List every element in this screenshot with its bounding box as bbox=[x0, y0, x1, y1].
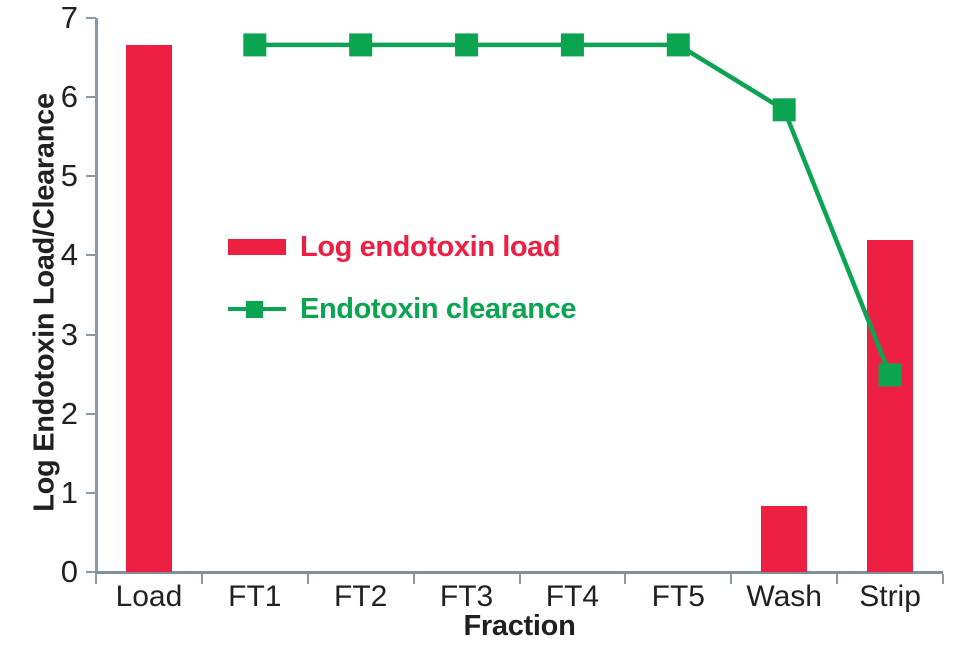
marker-ft1 bbox=[243, 33, 266, 56]
marker-ft2 bbox=[349, 33, 372, 56]
y-tick-label: 6 bbox=[16, 79, 78, 115]
x-tick bbox=[519, 574, 521, 584]
x-tick-label-ft3: FT3 bbox=[440, 580, 493, 614]
x-tick bbox=[730, 574, 732, 584]
bar-strip bbox=[867, 240, 913, 572]
y-tick-label: 5 bbox=[16, 158, 78, 194]
bar-load bbox=[126, 45, 172, 572]
x-axis-title: Fraction bbox=[96, 610, 943, 643]
endotoxin-clearance-chart: Log Endotoxin Load/Clearance 01234567 Lo… bbox=[0, 0, 953, 649]
y-tick bbox=[86, 413, 96, 415]
legend-label-endotoxin-clearance: Endotoxin clearance bbox=[300, 293, 576, 326]
bar-wash bbox=[761, 506, 807, 572]
y-tick bbox=[86, 334, 96, 336]
x-tick-label-ft5: FT5 bbox=[652, 580, 705, 614]
legend-item-endotoxin-clearance: Endotoxin clearance bbox=[228, 278, 576, 340]
line-marker-swatch-icon bbox=[228, 297, 286, 321]
x-tick bbox=[201, 574, 203, 584]
x-tick-label-ft1: FT1 bbox=[228, 580, 281, 614]
x-tick-label-load: Load bbox=[116, 580, 183, 614]
y-tick-label: 1 bbox=[16, 475, 78, 511]
x-tick-label-strip: Strip bbox=[859, 580, 921, 614]
x-tick bbox=[95, 574, 97, 584]
y-tick bbox=[86, 17, 96, 19]
y-tick-label: 2 bbox=[16, 396, 78, 432]
y-tick-label: 0 bbox=[16, 554, 78, 590]
x-tick-label-ft2: FT2 bbox=[334, 580, 387, 614]
x-tick bbox=[942, 574, 944, 584]
bar-swatch-icon bbox=[228, 239, 286, 255]
y-tick bbox=[86, 492, 96, 494]
y-tick bbox=[86, 254, 96, 256]
x-tick-label-wash: Wash bbox=[746, 580, 822, 614]
legend-label-log-endotoxin-load: Log endotoxin load bbox=[300, 231, 560, 264]
y-axis-line bbox=[95, 18, 98, 573]
x-tick bbox=[413, 574, 415, 584]
y-tick-label: 4 bbox=[16, 237, 78, 273]
legend-item-log-endotoxin-load: Log endotoxin load bbox=[228, 216, 576, 278]
marker-wash bbox=[773, 98, 796, 121]
y-tick-label: 3 bbox=[16, 317, 78, 353]
y-tick bbox=[86, 175, 96, 177]
x-tick bbox=[307, 574, 309, 584]
x-tick bbox=[836, 574, 838, 584]
x-tick bbox=[624, 574, 626, 584]
marker-ft5 bbox=[667, 33, 690, 56]
y-tick bbox=[86, 96, 96, 98]
legend: Log endotoxin load Endotoxin clearance bbox=[228, 216, 576, 340]
marker-ft4 bbox=[561, 33, 584, 56]
marker-ft3 bbox=[455, 33, 478, 56]
x-tick-label-ft4: FT4 bbox=[546, 580, 599, 614]
y-tick-label: 7 bbox=[16, 0, 78, 36]
